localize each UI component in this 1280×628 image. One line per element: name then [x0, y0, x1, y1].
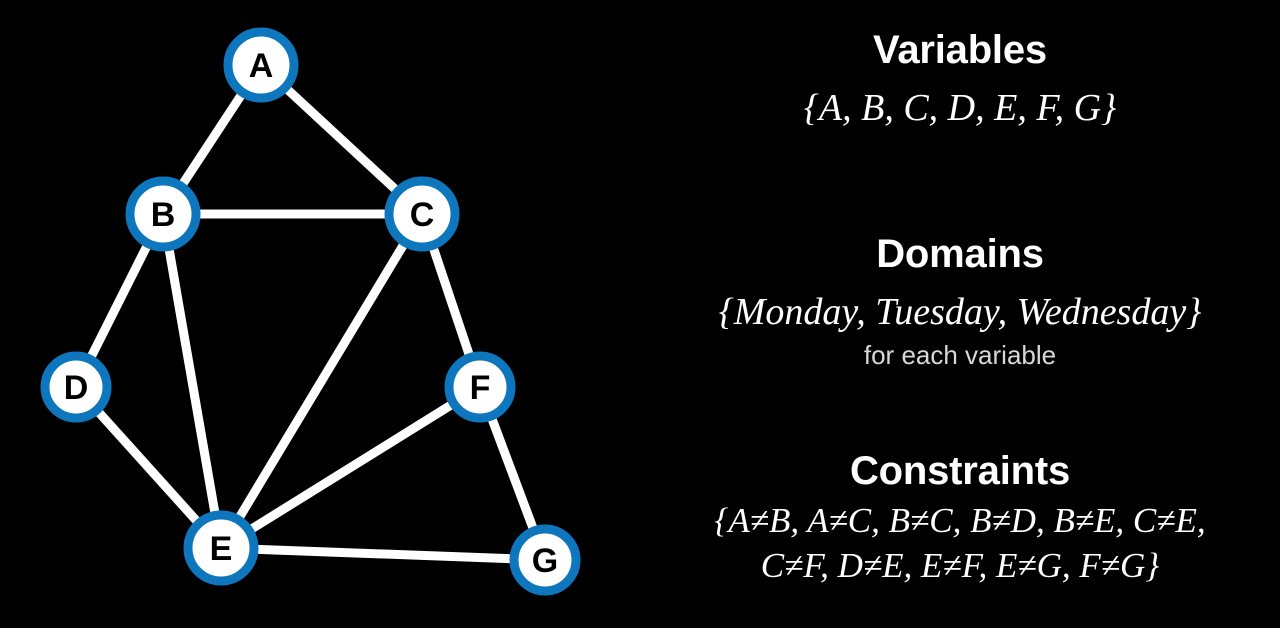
graph-node-label-c: C	[410, 196, 435, 234]
variables-block: Variables {A, B, C, D, E, F, G}	[640, 24, 1280, 132]
constraint-graph-svg: ABCDEFG	[0, 0, 640, 628]
graph-edge-layer	[76, 65, 545, 560]
graph-node-a[interactable]: A	[228, 32, 294, 98]
definition-panel: Variables {A, B, C, D, E, F, G} Domains …	[640, 0, 1280, 628]
domains-block: Domains {Monday, Tuesday, Wednesday} for…	[640, 228, 1280, 372]
graph-node-label-f: F	[470, 369, 491, 407]
graph-node-label-e: E	[210, 530, 233, 568]
graph-node-label-b: B	[151, 196, 176, 234]
graph-node-label-g: G	[532, 542, 558, 580]
slide-root: ABCDEFG Variables {A, B, C, D, E, F, G} …	[0, 0, 1280, 628]
graph-node-e[interactable]: E	[188, 515, 254, 581]
graph-edge-c-e	[221, 214, 422, 548]
graph-node-label-d: D	[64, 369, 89, 407]
graph-node-label-a: A	[249, 47, 274, 85]
variables-heading: Variables	[640, 24, 1280, 76]
constraints-heading: Constraints	[640, 445, 1280, 497]
constraint-graph-pane: ABCDEFG	[0, 0, 640, 628]
graph-node-f[interactable]: F	[449, 356, 511, 418]
graph-edge-e-f	[221, 387, 480, 548]
constraints-set-line-1: {A≠B, A≠C, B≠C, B≠D, B≠E, C≠E,	[640, 499, 1280, 542]
graph-node-d[interactable]: D	[45, 356, 107, 418]
graph-edge-e-g	[221, 548, 545, 560]
constraints-set-line-2: C≠F, D≠E, E≠F, E≠G, F≠G}	[640, 544, 1280, 587]
constraints-block: Constraints {A≠B, A≠C, B≠C, B≠D, B≠E, C≠…	[640, 445, 1280, 587]
graph-node-g[interactable]: G	[514, 529, 576, 591]
domains-set: {Monday, Tuesday, Wednesday}	[640, 288, 1280, 336]
variables-set: {A, B, C, D, E, F, G}	[640, 84, 1280, 132]
graph-node-b[interactable]: B	[130, 181, 196, 247]
domains-note: for each variable	[640, 338, 1280, 372]
domains-heading: Domains	[640, 228, 1280, 280]
graph-node-c[interactable]: C	[389, 181, 455, 247]
